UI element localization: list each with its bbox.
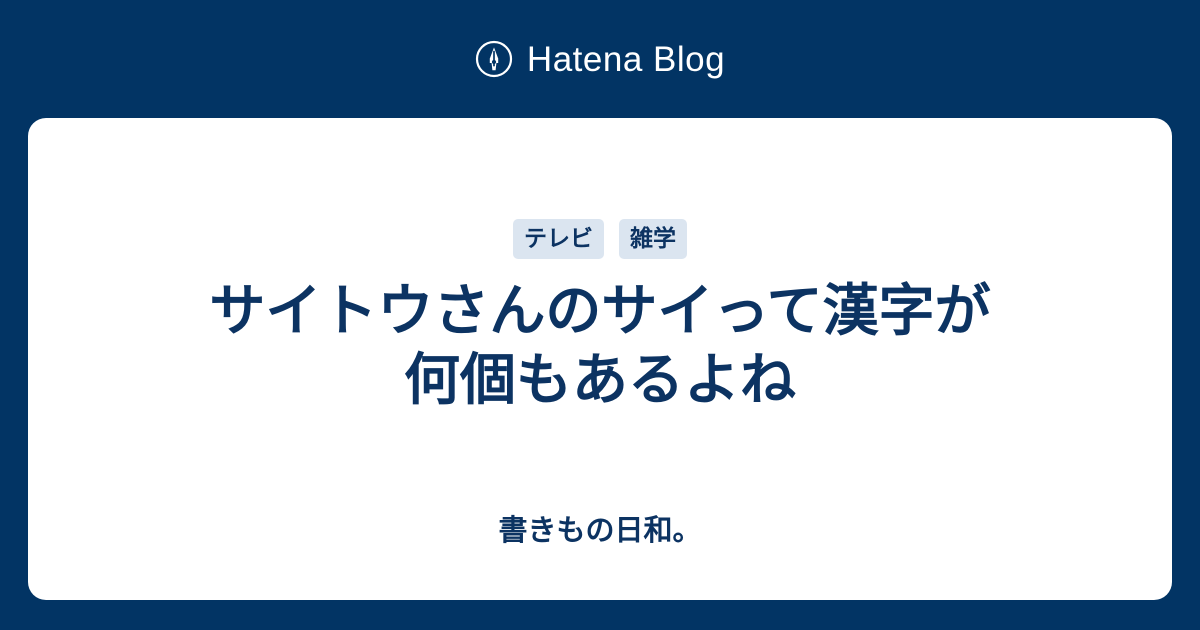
pen-nib-circle-icon <box>475 40 513 78</box>
entry-tag[interactable]: テレビ <box>513 219 604 259</box>
hatena-blog-og-card: Hatena Blog テレビ 雑学 サイトウさんのサイって漢字が何個もあるよね… <box>0 0 1200 630</box>
service-brand-header: Hatena Blog <box>0 0 1200 118</box>
entry-tag[interactable]: 雑学 <box>619 219 687 259</box>
entry-title: サイトウさんのサイって漢字が何個もあるよね <box>190 276 1010 415</box>
service-name: Hatena Blog <box>527 42 725 77</box>
entry-card: テレビ 雑学 サイトウさんのサイって漢字が何個もあるよね 書きもの日和。 <box>28 118 1172 600</box>
entry-tag-list: テレビ 雑学 <box>513 220 687 258</box>
blog-name: 書きもの日和。 <box>28 514 1172 549</box>
